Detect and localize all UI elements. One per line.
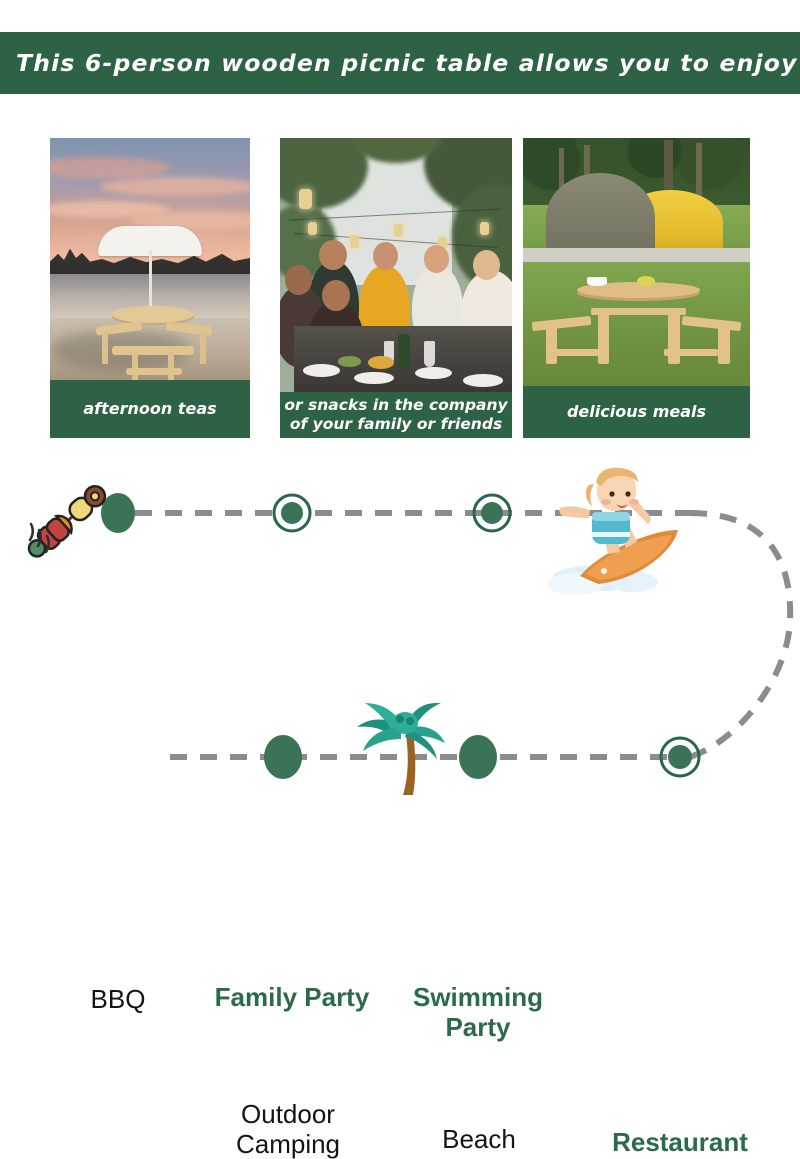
bbq-skewer-icon [8, 470, 118, 580]
photo-friends-dining [280, 138, 512, 392]
flow-line-curve [690, 513, 790, 757]
palm-tree-icon [345, 695, 455, 800]
panel-delicious-meals[interactable]: delicious meals [523, 138, 750, 438]
panel-afternoon-teas[interactable]: afternoon teas [50, 138, 250, 438]
photo-tent-and-table [523, 138, 750, 386]
flow-node-family-party[interactable] [274, 495, 310, 531]
flow-node-outdoor-camping[interactable] [264, 735, 302, 779]
panel-snacks[interactable]: or snacks in the company of your family … [280, 138, 512, 438]
panel-caption: delicious meals [523, 386, 750, 438]
panel-caption: or snacks in the company of your family … [280, 392, 512, 438]
flow-label-outdoor-camping: Outdoor Camping [198, 1100, 378, 1159]
flow-label-beach: Beach [404, 1125, 554, 1155]
panel-caption: afternoon teas [50, 380, 250, 438]
flow-label-swimming-party: Swimming Party [398, 983, 558, 1042]
flow-label-bbq: BBQ [68, 985, 168, 1015]
flow-label-restaurant: Restaurant [580, 1128, 780, 1158]
flow-label-family-party: Family Party [192, 983, 392, 1013]
activity-flow-diagram: BBQ Family Party Swimming Party Outdoor … [0, 452, 800, 800]
header-title: This 6-person wooden picnic table allows… [0, 49, 798, 77]
photo-beach-picnic-table [50, 138, 250, 380]
flow-node-beach[interactable] [459, 735, 497, 779]
photo-panels: afternoon teas [0, 138, 800, 440]
surfer-icon [540, 458, 700, 608]
header-banner: This 6-person wooden picnic table allows… [0, 32, 800, 94]
